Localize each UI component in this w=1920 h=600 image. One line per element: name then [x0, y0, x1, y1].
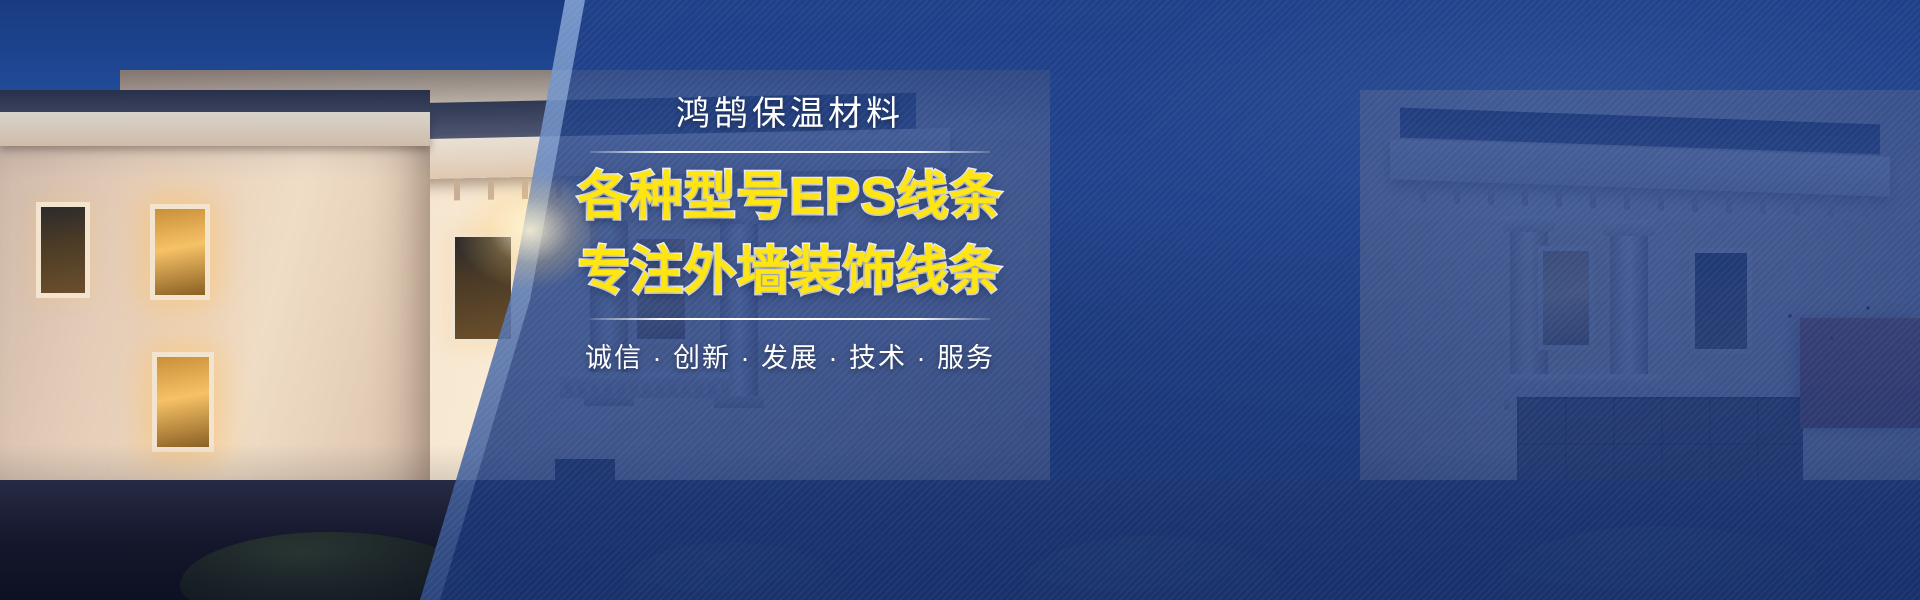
headline-line-2: 专注外墙装饰线条	[560, 242, 1020, 302]
banner-copy: 鸿鹄保温材料 各种型号EPS线条 专注外墙装饰线条 诚信 · 创新 · 发展 ·…	[560, 96, 1020, 375]
villa-window-lit	[152, 352, 214, 452]
divider-bottom	[590, 318, 990, 320]
brand-name: 鸿鹄保温材料	[560, 96, 1020, 133]
tagline: 诚信 · 创新 · 发展 · 技术 · 服务	[560, 336, 1020, 375]
villa-window	[36, 202, 90, 298]
villa-left-wing	[0, 112, 430, 512]
promo-banner: 鸿鹄保温材料 各种型号EPS线条 专注外墙装饰线条 诚信 · 创新 · 发展 ·…	[0, 0, 1920, 600]
villa-left-cornice	[0, 112, 430, 146]
divider-top	[590, 151, 990, 153]
headline-line-1: 各种型号EPS线条	[560, 167, 1020, 227]
villa-window-lit	[150, 204, 210, 300]
